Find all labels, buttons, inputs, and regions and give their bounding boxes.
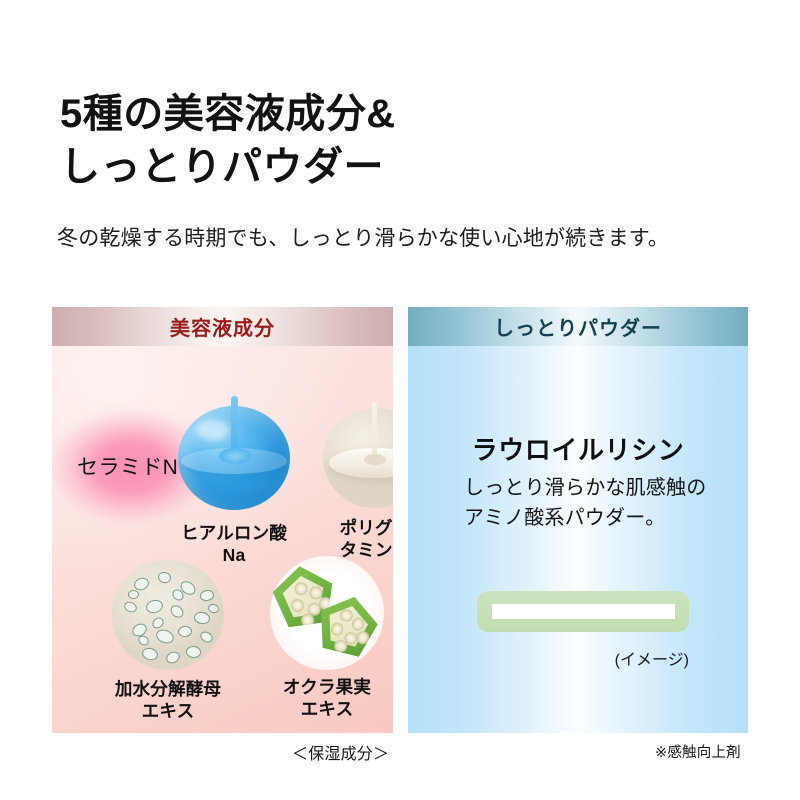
ingredient-label: 加水分解酵母 エキス (88, 678, 248, 723)
yeast-cell (193, 611, 211, 626)
serum-panel-header: 美容液成分 (52, 307, 393, 346)
blue-gel-drop-image (172, 396, 296, 520)
yeast-cell (164, 650, 181, 666)
powder-swatch-graphic (477, 591, 689, 632)
yeast-cell (199, 589, 215, 602)
yeast-cell (136, 634, 150, 648)
ingredient-hydrolyzed-yeast: 加水分解酵母 エキス (88, 556, 248, 723)
page-title: 5種の美容液成分& しっとりパウダー (60, 88, 396, 194)
serum-panel-body: セラミドNG ヒアルロン酸 Na ポリグル タミン酸 (52, 346, 393, 733)
page-subtitle: 冬の乾燥する時期でも、しっとり滑らかな使い心地が続きます。 (57, 222, 669, 252)
yeast-cell (154, 627, 175, 645)
ingredient-okra-extract: オクラ果実 エキス (252, 554, 393, 721)
yeast-cell (122, 600, 138, 615)
footnote-texture-enhancer: ※感触向上剤 (655, 741, 741, 762)
yeast-cell (198, 629, 214, 644)
footnote-moisturizing-ingredients: ＜保湿成分＞ (292, 740, 389, 764)
okra-slices-image (264, 554, 390, 674)
yeast-cell (207, 602, 220, 614)
okra-seed (355, 630, 370, 645)
powder-panel: しっとりパウダー ラウロイルリシン しっとり滑らかな肌感触の アミノ酸系パウダー… (408, 307, 748, 733)
powder-panel-header: しっとりパウダー (408, 307, 748, 346)
yeast-cell (157, 571, 172, 585)
powder-description: しっとり滑らかな肌感触の アミノ酸系パウダー。 (464, 474, 706, 533)
ingredient-polyglutamic-acid: ポリグル タミン酸 (314, 402, 393, 562)
powder-swatch-inner (492, 604, 675, 619)
yeast-cell (128, 590, 139, 599)
yeast-cell (168, 603, 186, 620)
yeast-cells-image (106, 556, 230, 674)
serum-ingredients-panel: 美容液成分 セラミドNG ヒアルロン酸 Na ポリグル タミン酸 (52, 307, 393, 733)
powder-panel-body: ラウロイルリシン しっとり滑らかな肌感触の アミノ酸系パウダー。 (イメージ) (408, 346, 748, 733)
yeast-cell (178, 625, 193, 637)
yeast-cell (145, 598, 165, 615)
ingredient-label: オクラ果実 エキス (252, 676, 393, 721)
cream-liquid-image (319, 402, 393, 514)
yeast-cell (141, 646, 160, 662)
ingredient-hyaluronic-acid: ヒアルロン酸 Na (160, 396, 308, 567)
image-disclaimer: (イメージ) (408, 646, 689, 670)
powder-ingredient-title: ラウロイルリシン (408, 430, 748, 467)
yeast-cell (186, 645, 202, 658)
okra-seed (300, 613, 315, 628)
yeast-cell (150, 615, 166, 630)
